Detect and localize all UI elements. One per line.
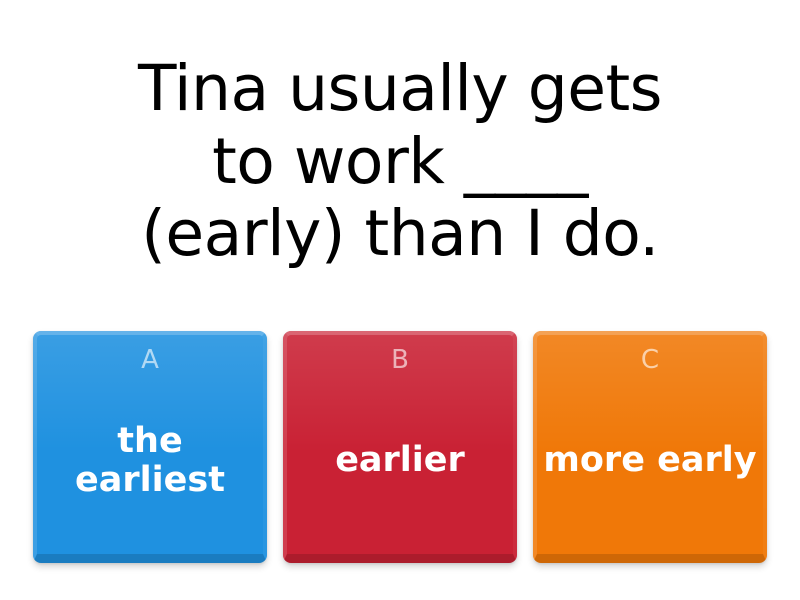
answer-options-list: A the earliest B earlier C more early — [33, 331, 767, 563]
answer-letter-a: A — [141, 347, 159, 373]
answer-letter-c: C — [641, 347, 659, 373]
answer-option-a[interactable]: A the earliest — [33, 331, 267, 563]
answer-letter-b: B — [391, 347, 409, 373]
question-area: Tina usually gets to work ____ (early) t… — [0, 12, 800, 312]
question-text: Tina usually gets to work ____ (early) t… — [30, 53, 770, 270]
quiz-stage: Tina usually gets to work ____ (early) t… — [0, 0, 800, 600]
answer-option-c[interactable]: C more early — [533, 331, 767, 563]
answer-option-b[interactable]: B earlier — [283, 331, 517, 563]
answer-text-b: earlier — [283, 373, 517, 563]
answer-text-c: more early — [533, 373, 767, 563]
answer-text-a: the earliest — [33, 373, 267, 563]
